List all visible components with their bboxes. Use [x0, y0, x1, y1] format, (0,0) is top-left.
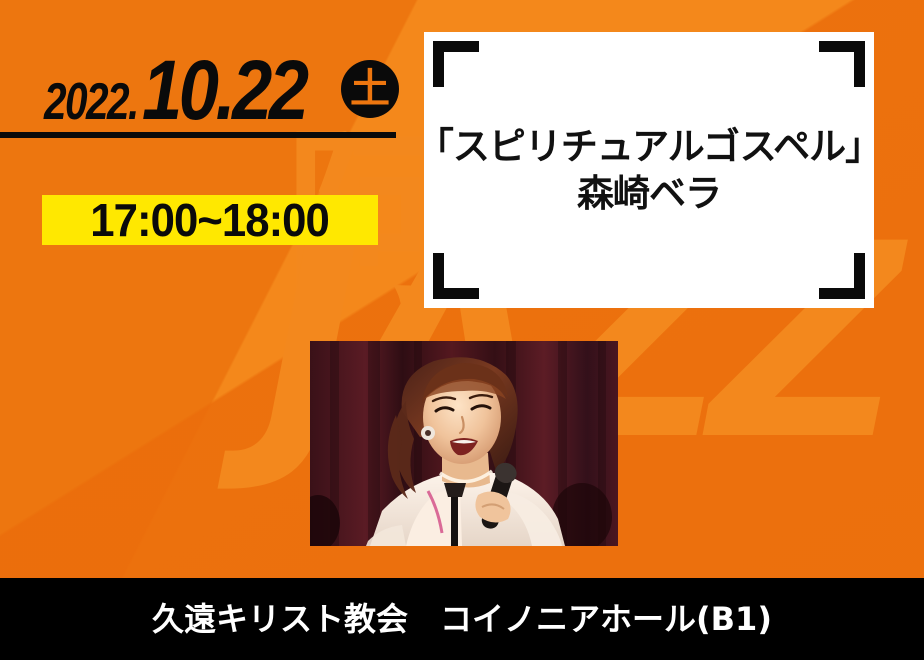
- title-card: 「スピリチュアルゴスペル」 森崎ベラ: [424, 32, 874, 308]
- time-range-label: 17:00~18:00: [91, 197, 330, 243]
- time-badge: 17:00~18:00: [42, 195, 378, 245]
- event-date: 2022. 10.22: [44, 42, 332, 139]
- venue-bar: 久遠キリスト教会 コイノニアホール(B1): [0, 578, 924, 660]
- artist-photo-image: [310, 341, 618, 546]
- date-year: 2022.: [44, 72, 138, 132]
- performer-name: 森崎ベラ: [577, 171, 721, 216]
- date-divider-rule: [0, 132, 396, 138]
- artist-photo: [310, 341, 618, 546]
- event-poster: 阿 JAZZ TS 2022. 10.22 土 17:00~18:00 「スピリ…: [0, 0, 924, 660]
- date-month-day: 10.22: [142, 42, 306, 139]
- day-of-week-badge: 土: [341, 60, 399, 118]
- program-title: 「スピリチュアルゴスペル」: [417, 124, 881, 169]
- venue-label: 久遠キリスト教会 コイノニアホール(B1): [152, 603, 772, 635]
